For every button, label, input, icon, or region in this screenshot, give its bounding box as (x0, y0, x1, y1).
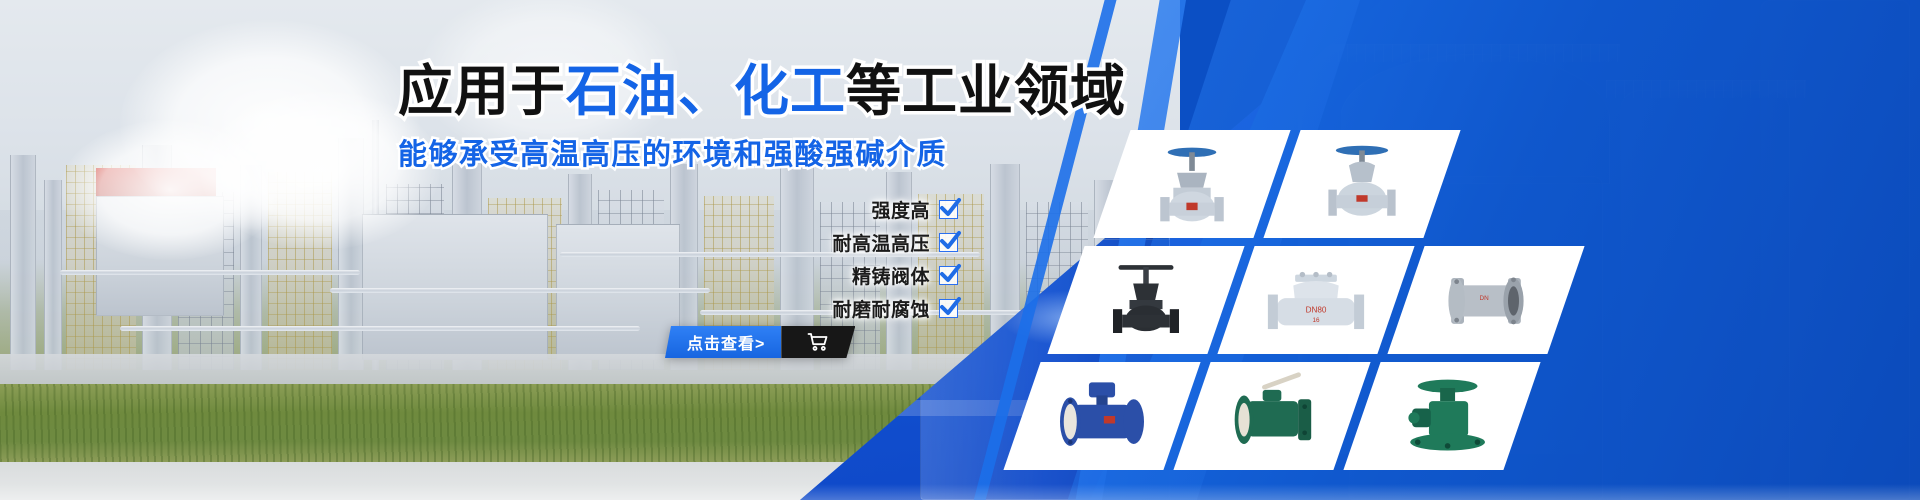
headline-block: 应用于石油、化工等工业领域 能够承受高温高压的环境和强酸强碱介质 (398, 62, 1058, 173)
svg-text:16: 16 (1312, 317, 1320, 324)
product-tile-steel-flanged-valve[interactable]: DN (1387, 246, 1584, 354)
product-tile-gate-valve-flanged[interactable] (1093, 130, 1290, 238)
promo-banner: DN80 16 DN (0, 0, 1920, 500)
feature-item: 精铸阀体 (852, 262, 958, 289)
gate-valve-cast-iron-icon (1091, 254, 1201, 346)
svg-text:DN: DN (1480, 295, 1490, 302)
feature-item: 强度高 (871, 196, 958, 223)
checkbox-checked-icon (939, 233, 958, 252)
feature-item: 耐磨耐腐蚀 (832, 295, 958, 322)
flanged-valve-green-icon (1386, 369, 1498, 463)
feature-label: 耐高温高压 (832, 229, 930, 256)
feature-label: 精铸阀体 (852, 262, 930, 289)
headline-subtitle: 能够承受高温高压的环境和强酸强碱介质 (398, 131, 1058, 173)
svg-text:DN80: DN80 (1306, 306, 1327, 315)
product-tile-ball-valve-lever-green[interactable] (1173, 362, 1370, 470)
headline-title: 应用于石油、化工等工业领域 (398, 62, 1058, 121)
headline-seg-3: 等工业领域 (846, 60, 1126, 122)
lined-ball-valve-blue-icon (1046, 369, 1158, 463)
globe-valve-flanged-icon (1306, 137, 1418, 231)
steel-flanged-valve-icon: DN (1431, 254, 1541, 346)
gate-valve-flanged-icon (1136, 137, 1248, 231)
feature-label: 耐磨耐腐蚀 (832, 295, 930, 322)
feature-label: 强度高 (871, 196, 930, 223)
headline-seg-1: 应用于 (398, 60, 566, 122)
checkbox-checked-icon (939, 299, 958, 318)
ball-valve-lever-green-icon (1216, 369, 1328, 463)
product-tile-swing-check-valve[interactable]: DN80 16 (1217, 246, 1414, 354)
feature-list: 强度高 耐高温高压 精铸阀体 耐磨耐腐蚀 (672, 196, 958, 322)
product-tile-gate-valve-cast-iron[interactable] (1047, 246, 1244, 354)
swing-check-valve-icon: DN80 16 (1257, 254, 1375, 346)
feature-item: 耐高温高压 (832, 229, 958, 256)
checkbox-checked-icon (939, 200, 958, 219)
shopping-cart-icon[interactable] (781, 326, 855, 358)
product-tile-flanged-valve-green[interactable] (1343, 362, 1540, 470)
cta-label[interactable]: 点击查看> (665, 326, 781, 358)
headline-seg-2-highlight: 石油、化工 (566, 60, 846, 122)
product-tile-lined-ball-valve-blue[interactable] (1003, 362, 1200, 470)
checkbox-checked-icon (939, 266, 958, 285)
cta-button[interactable]: 点击查看> (665, 326, 855, 358)
product-tile-globe-valve-flanged[interactable] (1263, 130, 1460, 238)
